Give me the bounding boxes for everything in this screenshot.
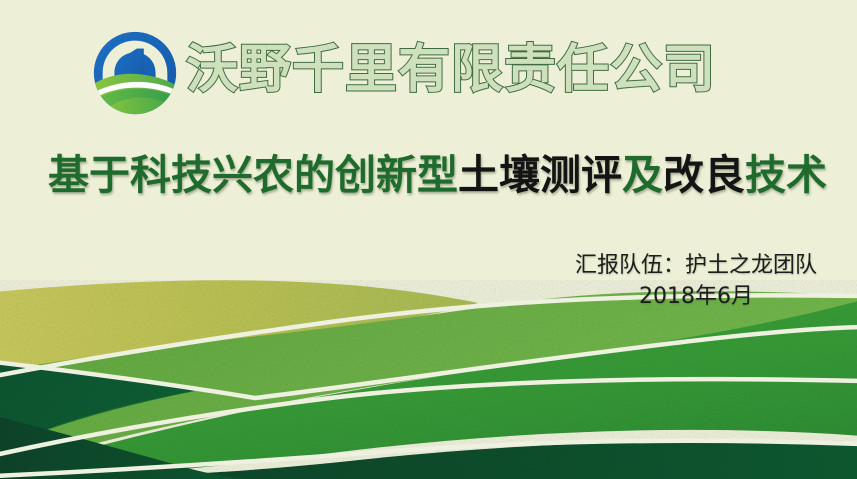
company-name: 沃野千里有限责任公司 bbox=[186, 30, 716, 110]
title-segment-2: 土壤测评 bbox=[458, 151, 622, 199]
title-segment-1: 基于科技兴农的创新型 bbox=[48, 151, 458, 199]
title-segment-4: 改良 bbox=[663, 151, 745, 199]
presenter-team-line: 汇报队伍：护土之龙团队 bbox=[575, 250, 817, 281]
page-title: 基于科技兴农的创新型土壤测评及改良技术 bbox=[48, 152, 838, 199]
title-segment-5: 技术 bbox=[745, 151, 827, 199]
title-segment-3: 及 bbox=[622, 151, 663, 199]
title-slide: 沃野千里有限责任公司 基于科技兴农的创新型土壤测评及改良技术 汇报队伍：护土之龙… bbox=[0, 0, 857, 479]
presentation-date-line: 2018年6月 bbox=[575, 281, 817, 312]
company-logo bbox=[86, 24, 184, 122]
subtitle-block: 汇报队伍：护土之龙团队 2018年6月 bbox=[575, 250, 817, 312]
